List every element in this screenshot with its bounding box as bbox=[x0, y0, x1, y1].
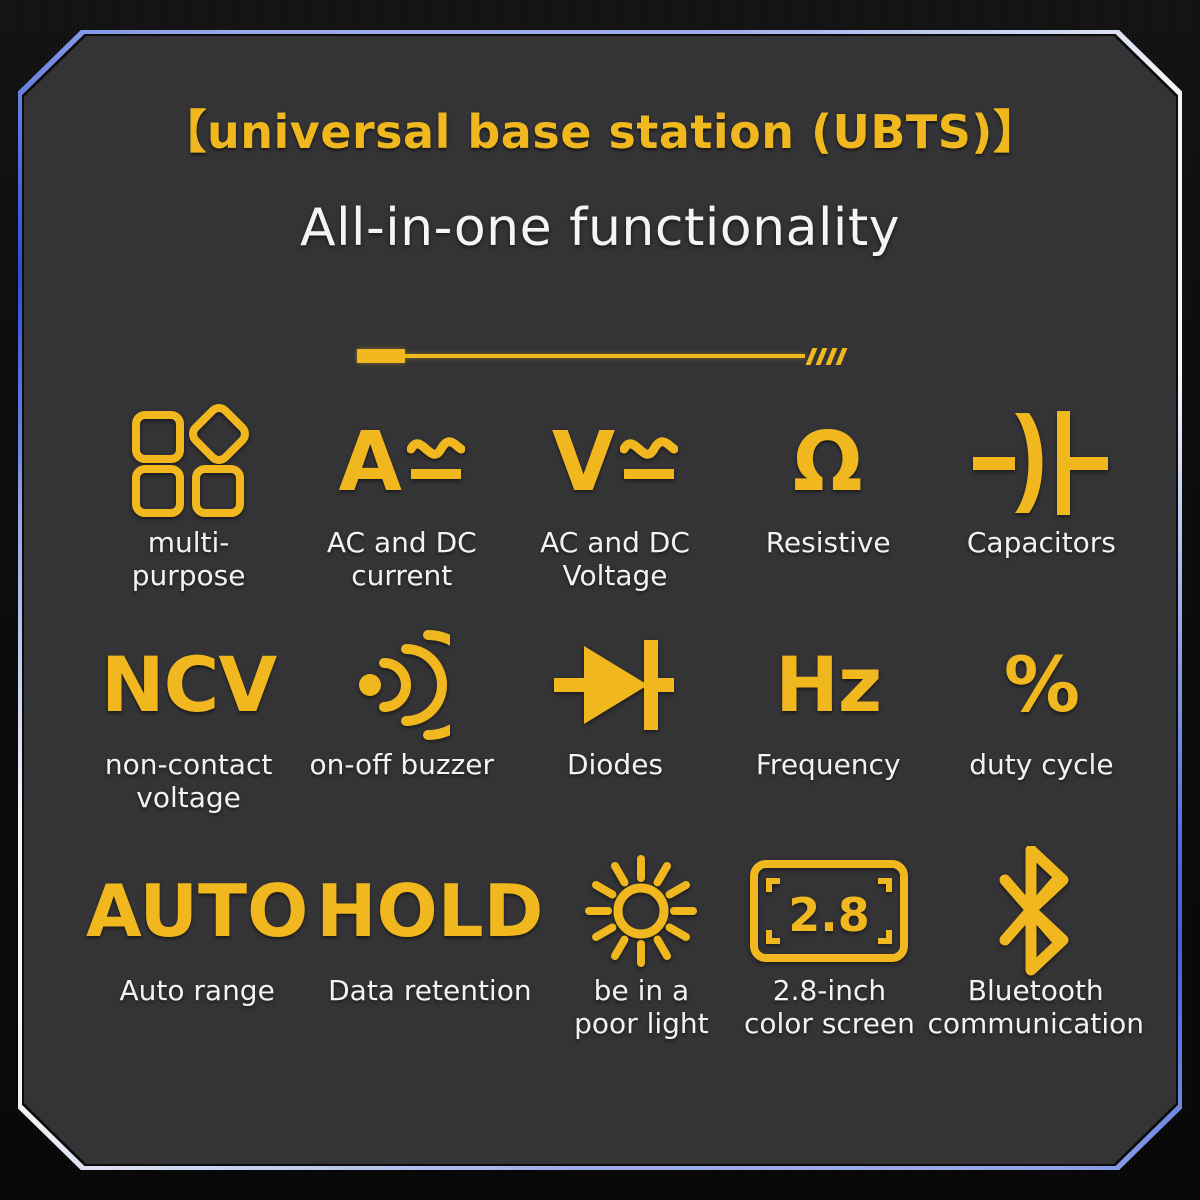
feature-caption-line: be in a bbox=[574, 974, 709, 1007]
decorative-divider bbox=[24, 336, 1176, 376]
feature-caption: Resistive bbox=[766, 526, 891, 559]
auto-icon: AUTO bbox=[86, 852, 308, 970]
feature-caption: Auto range bbox=[119, 974, 274, 1007]
feature-caption-line: current bbox=[327, 559, 477, 592]
ac-dc-current-icon: A bbox=[339, 404, 465, 522]
page-subtitle: All-in-one functionality bbox=[24, 198, 1176, 258]
feature-caption-line: Capacitors bbox=[967, 526, 1116, 559]
feature-row: AUTOAuto rangeHOLDData retentionbe in ap… bbox=[82, 852, 1148, 1040]
feature-caption-line: Bluetooth bbox=[927, 974, 1144, 1007]
feature-item: Capacitors bbox=[935, 404, 1148, 559]
divider-tick bbox=[805, 348, 817, 365]
feature-item: %duty cycle bbox=[935, 626, 1148, 781]
feature-caption-line: communication bbox=[927, 1007, 1144, 1040]
ohm-icon: Ω bbox=[793, 404, 864, 522]
four-shapes-icon bbox=[128, 403, 250, 523]
feature-caption: duty cycle bbox=[969, 748, 1113, 781]
feature-grid: multi-purposeAAC and DCcurrentVAC and DC… bbox=[82, 404, 1148, 1040]
capacitor-icon bbox=[973, 404, 1109, 522]
feature-caption-line: Frequency bbox=[756, 748, 901, 781]
divider-tick bbox=[815, 348, 827, 365]
divider-ticks bbox=[809, 348, 844, 365]
feature-item: ΩResistive bbox=[722, 404, 935, 559]
svg-text:2.8: 2.8 bbox=[789, 888, 871, 942]
color-screen-icon: 2.8 bbox=[749, 852, 909, 970]
feature-item: AAC and DCcurrent bbox=[295, 404, 508, 592]
feature-caption-line: voltage bbox=[105, 781, 273, 814]
feature-caption-line: duty cycle bbox=[969, 748, 1113, 781]
feature-item: multi-purpose bbox=[82, 404, 295, 592]
bluetooth-icon bbox=[997, 846, 1075, 976]
feature-panel: 【universal base station (UBTS)】 All-in-o… bbox=[18, 30, 1182, 1170]
feature-caption-line: on-off buzzer bbox=[310, 748, 494, 781]
feature-caption: Capacitors bbox=[967, 526, 1116, 559]
feature-caption-line: non-contact bbox=[105, 748, 273, 781]
ac-dc-symbol-icon bbox=[620, 423, 678, 499]
hertz-icon: Hz bbox=[775, 626, 881, 744]
feature-caption-line: Voltage bbox=[540, 559, 690, 592]
feature-item: 2.82.8-inchcolor screen bbox=[735, 852, 923, 1040]
feature-caption: 2.8-inchcolor screen bbox=[744, 974, 915, 1040]
bluetooth-icon bbox=[997, 852, 1075, 970]
diode-icon bbox=[554, 634, 676, 736]
feature-item: HzFrequency bbox=[722, 626, 935, 781]
feature-caption-line: 2.8-inch bbox=[744, 974, 915, 1007]
feature-caption: AC and DCVoltage bbox=[540, 526, 690, 592]
feature-row: multi-purposeAAC and DCcurrentVAC and DC… bbox=[82, 404, 1148, 592]
feature-caption-line: multi- bbox=[132, 526, 246, 559]
ac-dc-current-icon-glyph: A bbox=[339, 422, 403, 504]
feature-caption-line: color screen bbox=[744, 1007, 915, 1040]
ac-dc-voltage-icon-glyph: V bbox=[552, 422, 616, 504]
feature-item: HOLDData retention bbox=[312, 852, 547, 1007]
ncv-icon-glyph: NCV bbox=[101, 647, 276, 723]
buzzer-icon bbox=[354, 626, 450, 744]
color-screen-icon: 2.8 bbox=[749, 859, 909, 963]
auto-icon-glyph: AUTO bbox=[86, 875, 308, 947]
divider-tick bbox=[835, 348, 847, 365]
feature-caption: on-off buzzer bbox=[310, 748, 494, 781]
feature-caption: multi-purpose bbox=[132, 526, 246, 592]
diode-icon bbox=[554, 626, 676, 744]
panel-face: 【universal base station (UBTS)】 All-in-o… bbox=[24, 36, 1176, 1164]
feature-caption-line: Auto range bbox=[119, 974, 274, 1007]
hertz-icon-glyph: Hz bbox=[775, 647, 881, 723]
feature-item: Bluetoothcommunication bbox=[923, 852, 1148, 1040]
ohm-icon-glyph: Ω bbox=[793, 422, 864, 504]
feature-caption-line: Diodes bbox=[567, 748, 663, 781]
feature-item: VAC and DCVoltage bbox=[508, 404, 721, 592]
divider-block bbox=[357, 349, 405, 363]
divider-tick bbox=[825, 348, 837, 365]
feature-item: be in apoor light bbox=[547, 852, 735, 1040]
percent-icon: % bbox=[1004, 626, 1079, 744]
percent-icon-glyph: % bbox=[1004, 647, 1079, 723]
divider-line bbox=[405, 354, 805, 358]
feature-caption-line: purpose bbox=[132, 559, 246, 592]
sun-backlight-icon bbox=[585, 852, 697, 970]
feature-caption: Frequency bbox=[756, 748, 901, 781]
feature-caption-line: Resistive bbox=[766, 526, 891, 559]
feature-caption-line: AC and DC bbox=[327, 526, 477, 559]
feature-caption: Bluetoothcommunication bbox=[927, 974, 1144, 1040]
feature-caption-line: poor light bbox=[574, 1007, 709, 1040]
feature-caption-line: AC and DC bbox=[540, 526, 690, 559]
capacitor-icon bbox=[973, 407, 1109, 519]
hold-icon: HOLD bbox=[316, 852, 543, 970]
ac-dc-symbol-icon bbox=[407, 423, 465, 499]
feature-item: on-off buzzer bbox=[295, 626, 508, 781]
ncv-icon: NCV bbox=[101, 626, 276, 744]
sun-backlight-icon bbox=[585, 855, 697, 967]
page-title: 【universal base station (UBTS)】 bbox=[24, 96, 1176, 162]
buzzer-icon bbox=[354, 629, 450, 741]
hold-icon-glyph: HOLD bbox=[316, 875, 543, 947]
feature-row: NCVnon-contactvoltageon-off buzzerDiodes… bbox=[82, 626, 1148, 814]
ac-dc-voltage-icon: V bbox=[552, 404, 678, 522]
feature-caption: non-contactvoltage bbox=[105, 748, 273, 814]
feature-caption: Data retention bbox=[328, 974, 531, 1007]
feature-caption: Diodes bbox=[567, 748, 663, 781]
feature-item: AUTOAuto range bbox=[82, 852, 312, 1007]
feature-caption: be in apoor light bbox=[574, 974, 709, 1040]
four-shapes-icon bbox=[128, 404, 250, 522]
feature-item: NCVnon-contactvoltage bbox=[82, 626, 295, 814]
feature-caption: AC and DCcurrent bbox=[327, 526, 477, 592]
feature-item: Diodes bbox=[508, 626, 721, 781]
feature-caption-line: Data retention bbox=[328, 974, 531, 1007]
